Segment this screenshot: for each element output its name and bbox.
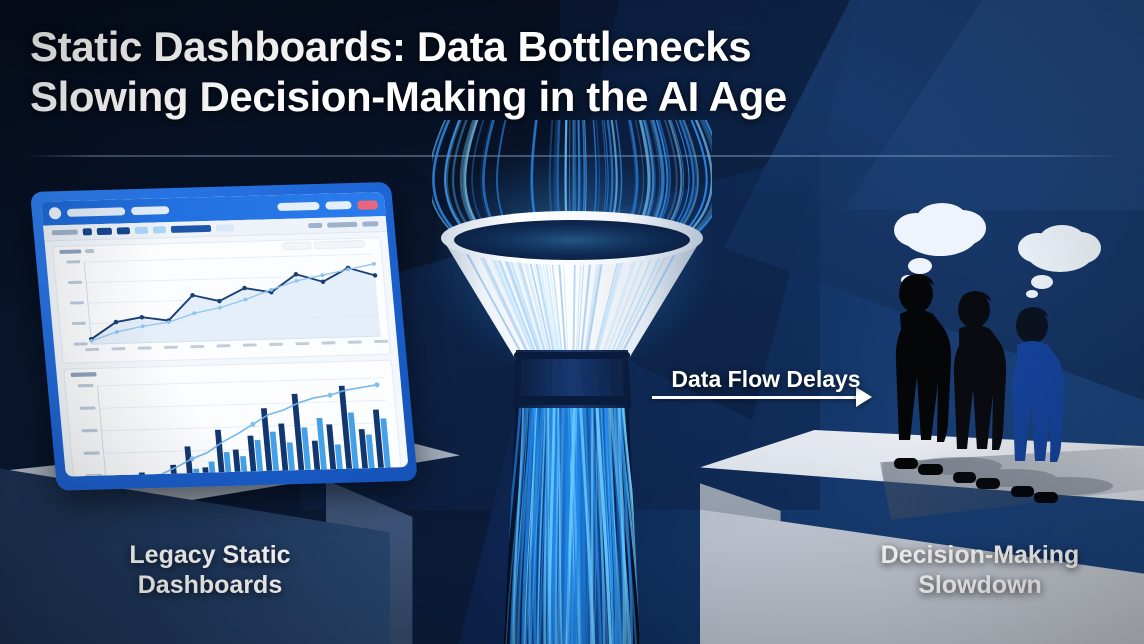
executive-1: [894, 274, 951, 475]
filter-label: [327, 222, 358, 228]
page-title-line-1: Static Dashboards: Data Bottlenecks: [30, 22, 1130, 72]
data-flow-delays-annotation: Data Flow Delays: [648, 366, 884, 426]
left-caption: Legacy Static Dashboards: [60, 540, 360, 600]
infographic-canvas: Static Dashboards: Data Bottlenecks Slow…: [0, 0, 1144, 644]
filter-chip[interactable]: [153, 226, 167, 233]
titlebar-pill: [67, 207, 126, 217]
filter-chip[interactable]: [83, 228, 93, 235]
titlebar-pill: [131, 206, 170, 215]
executives-group: [862, 190, 1144, 510]
line-chart: [53, 238, 390, 362]
left-caption-line-1: Legacy Static: [60, 540, 360, 570]
legacy-dashboard-monitor[interactable]: [30, 182, 418, 491]
right-caption: Decision-Making Slowdown: [830, 540, 1130, 600]
filter-chip[interactable]: [135, 227, 149, 234]
filter-label: [362, 221, 378, 226]
filter-chip[interactable]: [97, 228, 113, 235]
titlebar-pill: [277, 202, 320, 211]
dashboard-body: [45, 232, 409, 477]
titlebar-pill: [325, 201, 352, 210]
filter-chip[interactable]: [117, 227, 131, 234]
flow-label-line-2: Delays: [786, 366, 860, 392]
titlebar-spacer: [175, 207, 271, 210]
page-title-line-2: Slowing Decision-Making in the AI Age: [30, 72, 1130, 122]
monitor-screen: [41, 192, 409, 476]
left-caption-line-2: Dashboards: [60, 570, 360, 600]
page-title: Static Dashboards: Data Bottlenecks Slow…: [30, 22, 1130, 122]
bar-chart: [64, 360, 404, 476]
right-caption-line-1: Decision-Making: [830, 540, 1130, 570]
flow-label-text: Data Flow Delays: [648, 366, 884, 426]
thought-bubble-1: [894, 203, 986, 285]
filter-chip[interactable]: [216, 224, 235, 231]
filter-label: [308, 223, 322, 228]
filter-chip[interactable]: [171, 225, 212, 233]
filter-label: [52, 230, 78, 236]
right-caption-line-2: Slowdown: [830, 570, 1130, 600]
bar-chart-panel: [63, 359, 405, 476]
thought-bubble-2: [1018, 225, 1101, 298]
flow-label-line-1: Data Flow: [671, 366, 780, 392]
window-dot-icon: [48, 207, 61, 219]
close-button[interactable]: [357, 200, 378, 210]
filter-spacer: [239, 226, 303, 228]
line-chart-panel: [52, 237, 391, 363]
